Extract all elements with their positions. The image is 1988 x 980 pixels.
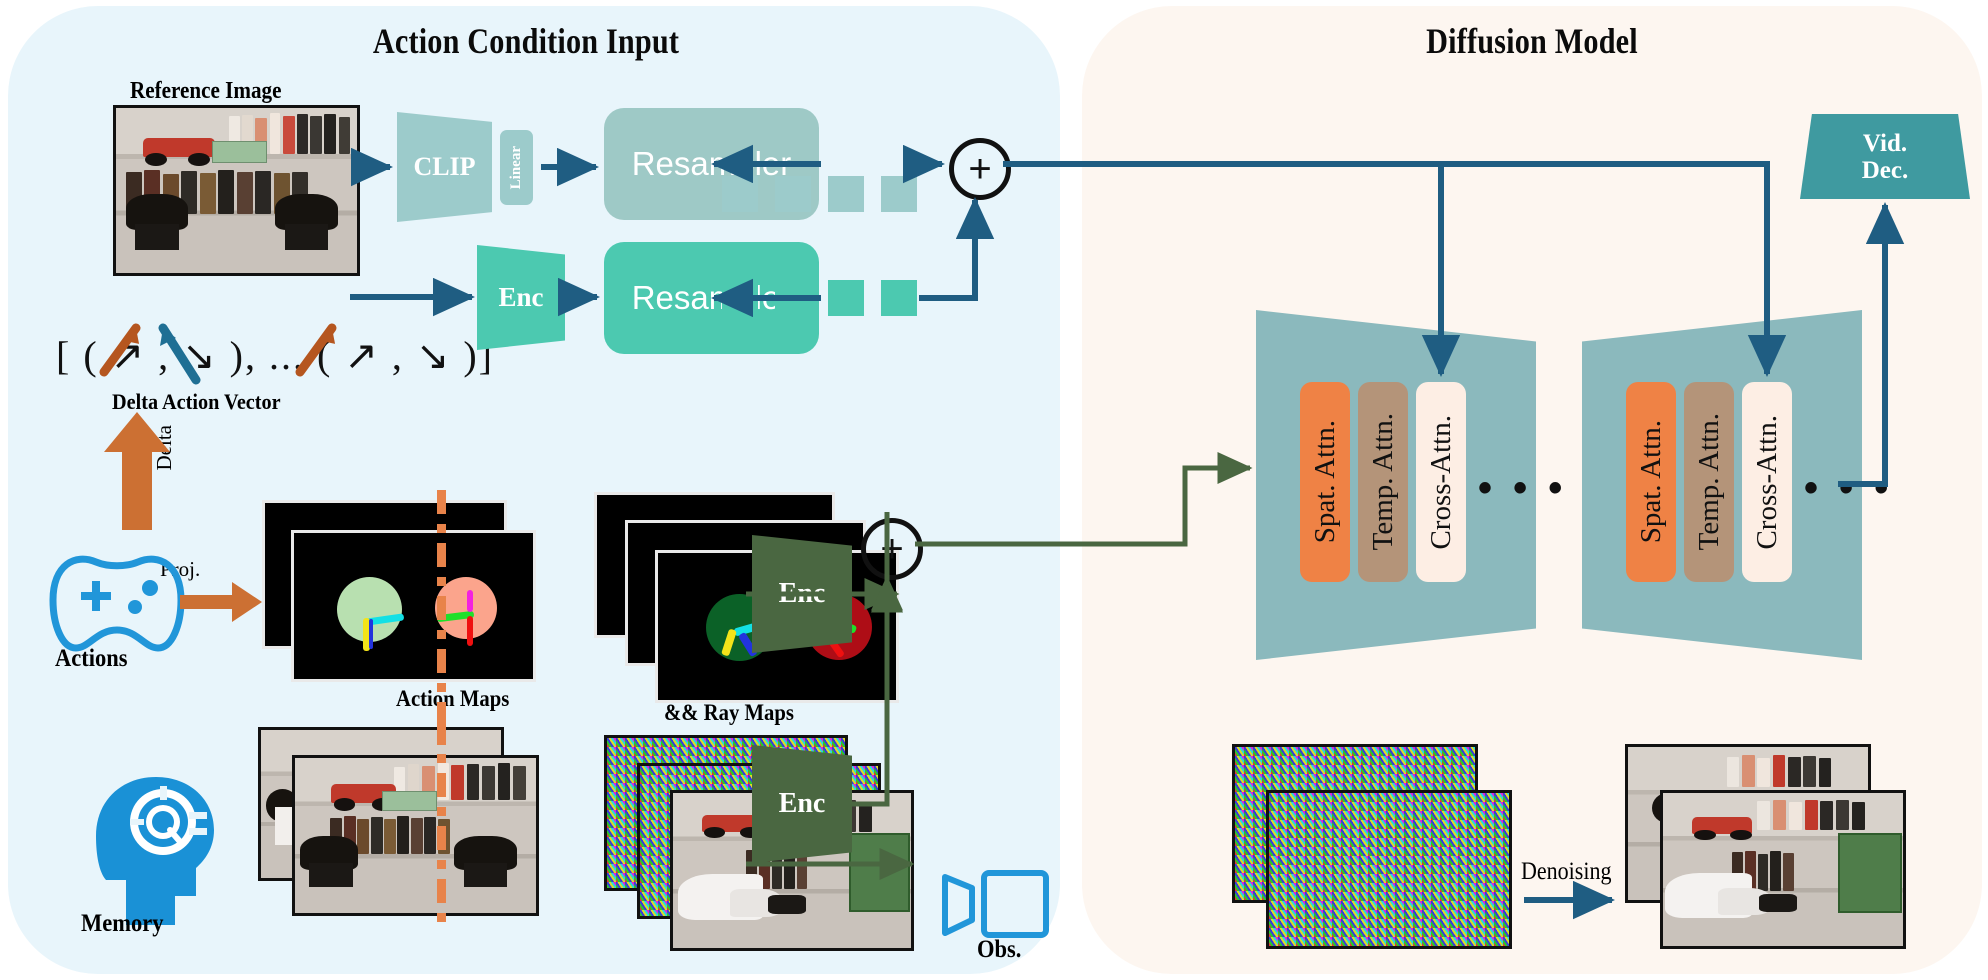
enc-action-label: Enc: [498, 282, 543, 313]
condition-sum-node: +: [949, 138, 1011, 200]
cross-attention-label-2: Cross-Attn.: [1751, 415, 1784, 550]
resampler-bottom-label: Resampler: [632, 279, 792, 317]
obs-label: Obs.: [977, 936, 1021, 964]
action-map-frame-front: [291, 530, 536, 682]
unet-ellipsis-2: • • •: [1804, 466, 1893, 511]
action-token-4: [881, 280, 917, 316]
panel-title-diffusion-model: Diffusion Model: [1154, 20, 1910, 62]
reference-image-label: Reference Image: [130, 78, 281, 105]
enc-ray-block: Enc: [752, 535, 852, 653]
plus-symbol: +: [968, 149, 991, 189]
memory-frame-front: [292, 755, 539, 916]
memory-label: Memory: [81, 910, 163, 938]
action-token-3: [828, 280, 864, 316]
video-decoder-block: Vid. Dec.: [1800, 114, 1970, 199]
actions-label: Actions: [55, 645, 128, 673]
image-token-2: [775, 176, 811, 212]
spatial-attention-label-2: Spat. Attn.: [1635, 420, 1668, 543]
image-token-3: [828, 176, 864, 212]
enc-obs-label: Enc: [779, 788, 826, 820]
vid-dec-label-line2: Dec.: [1862, 157, 1909, 184]
delta-arrow-label: Delta: [152, 425, 177, 470]
cross-attention-block-1: Cross-Attn.: [1416, 382, 1466, 582]
delta-action-vector-label: Delta Action Vector: [112, 389, 281, 415]
cross-attention-block-2: Cross-Attn.: [1742, 382, 1792, 582]
clip-label: CLIP: [413, 152, 475, 182]
denoised-output-frame-front: [1660, 790, 1906, 949]
latent-sum-node: +: [861, 518, 923, 580]
plus-symbol-bottom: +: [880, 529, 903, 569]
cross-attention-label: Cross-Attn.: [1425, 415, 1458, 550]
separator-dashed-bottom: [437, 720, 446, 950]
temporal-attention-label: Temp. Attn.: [1367, 413, 1400, 550]
unet-ellipsis-1: • • •: [1478, 466, 1567, 511]
temporal-attention-label-2: Temp. Attn.: [1693, 413, 1726, 550]
reference-image: [113, 105, 360, 276]
image-token-4: [881, 176, 917, 212]
enc-action-block: Enc: [477, 245, 565, 350]
action-token-1: [722, 280, 758, 316]
ray-maps-label: && Ray Maps: [664, 700, 794, 726]
enc-ray-label: Enc: [779, 578, 826, 610]
panel-title-action-condition-input: Action Condition Input: [84, 20, 968, 62]
temporal-attention-block-1: Temp. Attn.: [1358, 382, 1408, 582]
spatial-attention-block-1: Spat. Attn.: [1300, 382, 1350, 582]
linear-projection-block: Linear: [500, 130, 533, 205]
temporal-attention-block-2: Temp. Attn.: [1684, 382, 1734, 582]
clip-encoder-block: CLIP: [397, 112, 492, 222]
action-maps-label: Action Maps: [396, 686, 509, 712]
spatial-attention-label: Spat. Attn.: [1309, 420, 1342, 543]
action-token-2: [775, 280, 811, 316]
denoising-label: Denoising: [1521, 858, 1611, 886]
linear-label: Linear: [508, 146, 525, 189]
delta-action-vector-expression: [ ( ↗ , ↘ ), ... ( ↗ , ↘ )]: [56, 332, 494, 379]
resampler-top-label: Resampler: [632, 145, 792, 183]
spatial-attention-block-2: Spat. Attn.: [1626, 382, 1676, 582]
noisy-output-frame-front: [1266, 790, 1512, 949]
vid-dec-label-line1: Vid.: [1863, 130, 1907, 157]
image-token-1: [722, 176, 758, 212]
proj-label: Proj.: [160, 557, 200, 582]
enc-obs-block: Enc: [752, 745, 852, 863]
